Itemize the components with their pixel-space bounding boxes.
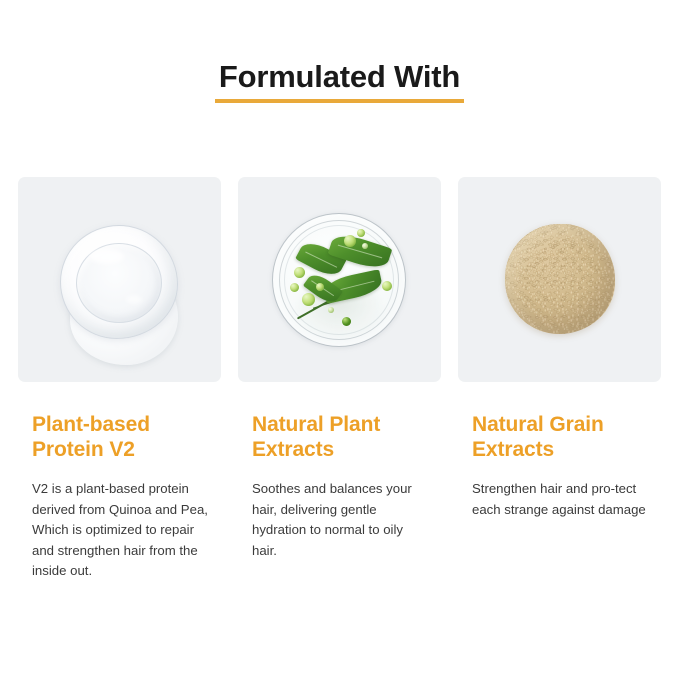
grain-pile-shading xyxy=(505,224,615,334)
formulated-with-panel: Formulated With Plant-based Protein V2 V… xyxy=(0,0,679,679)
ingredient-image-card-3 xyxy=(458,177,661,382)
ingredient-heading-1: Plant-based Protein V2 xyxy=(32,412,207,462)
ingredient-heading-2: Natural Plant Extracts xyxy=(252,412,427,462)
ingredient-column-natural-grain-extracts: Natural Grain Extracts Strengthen hair a… xyxy=(458,177,661,582)
petri-dish-green-leaves-photo xyxy=(272,213,406,347)
green-droplet-8 xyxy=(342,317,351,326)
grain-pile-photo xyxy=(505,224,615,334)
green-droplet-6 xyxy=(357,229,365,237)
ingredient-columns: Plant-based Protein V2 V2 is a plant-bas… xyxy=(18,177,661,582)
green-droplet-9 xyxy=(328,307,334,313)
ingredient-image-card-2 xyxy=(238,177,441,382)
green-droplet-4 xyxy=(316,283,324,291)
ingredient-body-3: Strengthen hair and pro-tect each strang… xyxy=(472,479,650,520)
ingredient-body-2: Soothes and balances your hair, deliveri… xyxy=(252,479,430,561)
ingredient-image-card-1 xyxy=(18,177,221,382)
page-title-block: Formulated With xyxy=(0,60,679,103)
ingredient-heading-3: Natural Grain Extracts xyxy=(472,412,647,462)
green-droplet-3 xyxy=(302,293,315,306)
page-title: Formulated With xyxy=(215,60,464,103)
plant-protein-gel-photo xyxy=(18,177,221,382)
green-droplet-2 xyxy=(290,283,299,292)
ingredient-body-1: V2 is a plant-based protein derived from… xyxy=(32,479,210,582)
green-droplet-5 xyxy=(344,235,356,247)
gel-highlight-primary xyxy=(90,249,124,264)
ingredient-column-natural-plant-extracts: Natural Plant Extracts Soothes and balan… xyxy=(238,177,441,582)
green-droplet-7 xyxy=(382,281,392,291)
gel-highlight-secondary xyxy=(126,295,142,304)
green-droplet-10 xyxy=(362,243,368,249)
green-droplet-1 xyxy=(294,267,305,278)
ingredient-column-plant-based-protein: Plant-based Protein V2 V2 is a plant-bas… xyxy=(18,177,221,582)
